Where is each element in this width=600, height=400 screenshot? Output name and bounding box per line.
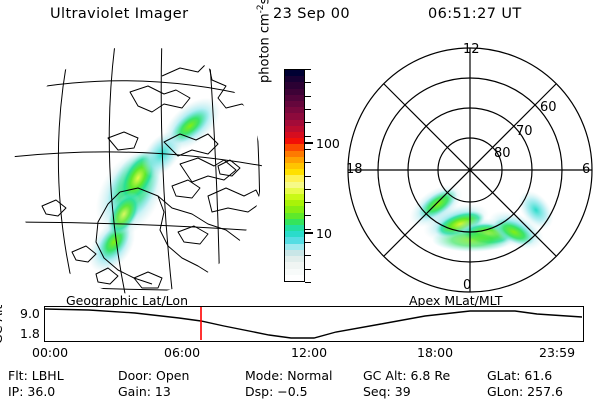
status-glon: GLon: 257.6 bbox=[487, 384, 563, 399]
colorbar-minor-tick-9 bbox=[305, 189, 311, 190]
colorbar-minor-tick-7 bbox=[305, 162, 311, 163]
colorbar-minor-tick-14 bbox=[305, 255, 311, 256]
colorbar-major-tick-10 bbox=[305, 232, 313, 234]
map-aurora-emission bbox=[79, 88, 230, 282]
orbit-y-axis-text: GC Alt bbox=[0, 300, 5, 344]
orbit-x-tick-0600: 06:00 bbox=[164, 345, 200, 360]
orbit-x-tick-2359: 23:59 bbox=[539, 345, 575, 360]
orbit-x-tick-1800: 18:00 bbox=[417, 345, 453, 360]
polar-grid bbox=[348, 48, 592, 292]
status-seq: Seq: 39 bbox=[363, 384, 411, 399]
colorbar-band-33 bbox=[285, 275, 304, 281]
colorbar-minor-tick-3 bbox=[305, 109, 311, 110]
status-door: Door: Open bbox=[118, 368, 189, 383]
instrument-title: Ultraviolet Imager bbox=[50, 6, 188, 22]
geographic-map-panel[interactable] bbox=[12, 46, 264, 294]
polar-mlt-12-label: 12 bbox=[463, 42, 480, 57]
observation-time: 06:51:27 UT bbox=[428, 6, 522, 22]
colorbar-axis-label-tail: s bbox=[257, 0, 272, 4]
colorbar-minor-tick-5 bbox=[305, 136, 311, 137]
colorbar-panel: 100 10 photon cm-2s-1 bbox=[262, 55, 354, 295]
apex-polar-panel[interactable]: 12 6 0 18 60 70 80 bbox=[344, 44, 596, 296]
colorbar-minor-tick-0 bbox=[305, 69, 311, 70]
colorbar-minor-tick-13 bbox=[305, 242, 311, 243]
colorbar-major-tick-100 bbox=[305, 142, 313, 144]
colorbar-minor-tick-6 bbox=[305, 149, 311, 150]
colorbar-axis-label: photon cm-2s-1 bbox=[256, 0, 272, 83]
colorbar-minor-tick-2 bbox=[305, 96, 311, 97]
colorbar-minor-tick-10 bbox=[305, 202, 311, 203]
colorbar-minor-tick-12 bbox=[305, 229, 311, 230]
orbit-altitude-chart[interactable] bbox=[44, 306, 584, 342]
status-gain: Gain: 13 bbox=[118, 384, 171, 399]
polar-mlat-70-label: 70 bbox=[516, 124, 533, 139]
status-mode: Mode: Normal bbox=[245, 368, 332, 383]
colorbar-gradient bbox=[284, 69, 305, 282]
colorbar-minor-tick-4 bbox=[305, 122, 311, 123]
colorbar-ticks bbox=[305, 69, 313, 282]
polar-mlt-0-label: 0 bbox=[463, 278, 471, 293]
colorbar-axis-exp-1: -2 bbox=[256, 4, 266, 13]
colorbar-minor-tick-16 bbox=[305, 282, 311, 283]
orbit-y-axis-label: GC Alt bbox=[2, 306, 20, 344]
observation-date: 23 Sep 00 bbox=[273, 6, 350, 22]
orbit-y-tick-high: 9.0 bbox=[20, 306, 40, 321]
polar-mlat-60-label: 60 bbox=[540, 100, 557, 115]
polar-mlat-80-label: 80 bbox=[494, 146, 511, 161]
orbit-x-tick-0000: 00:00 bbox=[32, 345, 68, 360]
colorbar-tick-label-100: 100 bbox=[316, 136, 340, 151]
header-bar: Ultraviolet Imager 23 Sep 00 06:51:27 UT bbox=[0, 6, 600, 28]
polar-aurora-emission bbox=[402, 176, 560, 258]
colorbar-tick-label-10: 10 bbox=[316, 226, 332, 241]
status-ip: IP: 36.0 bbox=[8, 384, 55, 399]
polar-mlt-6-label: 6 bbox=[582, 162, 590, 177]
status-filter: Flt: LBHL bbox=[8, 368, 64, 383]
polar-mlt-18-label: 18 bbox=[346, 162, 363, 177]
orbit-x-tick-1200: 12:00 bbox=[291, 345, 327, 360]
colorbar-minor-tick-8 bbox=[305, 176, 311, 177]
orbit-y-tick-low: 1.8 bbox=[20, 326, 40, 341]
colorbar-axis-label-text: photon cm bbox=[257, 13, 272, 83]
orbit-altitude-curve bbox=[45, 309, 582, 338]
status-gc-alt: GC Alt: 6.8 Re bbox=[363, 368, 450, 383]
status-dsp: Dsp: −0.5 bbox=[245, 384, 308, 399]
colorbar-minor-tick-11 bbox=[305, 215, 311, 216]
status-glat: GLat: 61.6 bbox=[487, 368, 552, 383]
colorbar-minor-tick-1 bbox=[305, 82, 311, 83]
colorbar-minor-tick-15 bbox=[305, 269, 311, 270]
